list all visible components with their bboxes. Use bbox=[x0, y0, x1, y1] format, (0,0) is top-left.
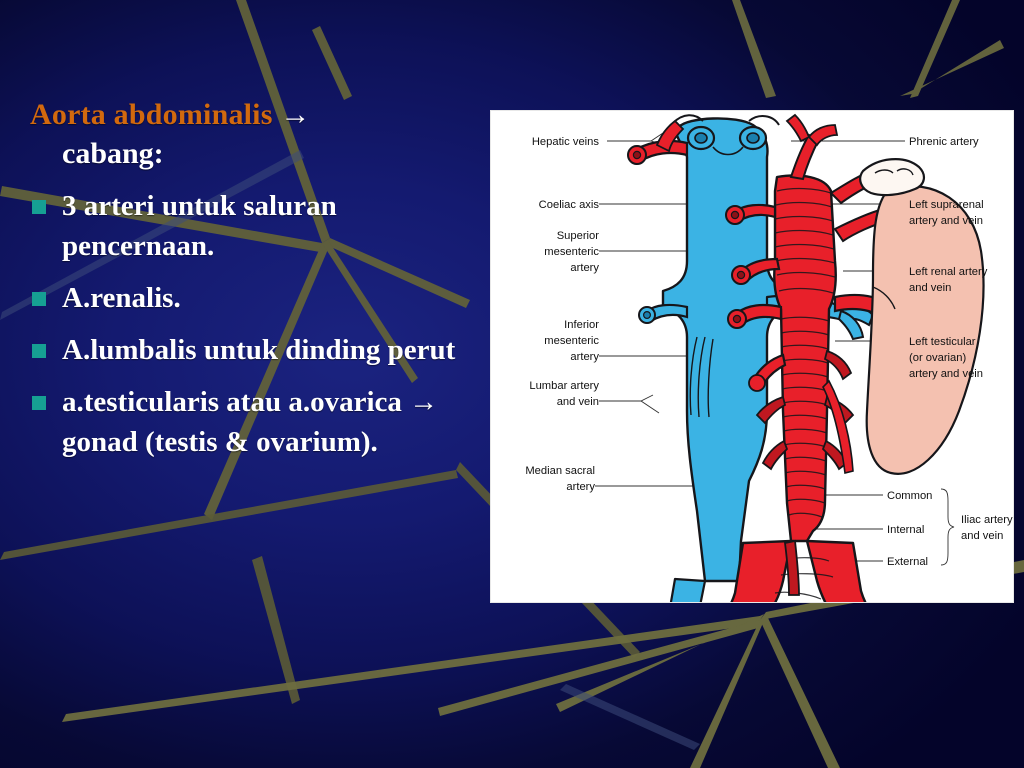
svg-text:Common: Common bbox=[887, 490, 932, 502]
svg-text:artery and vein: artery and vein bbox=[909, 368, 983, 380]
list-item: A.renalis. bbox=[0, 278, 470, 318]
svg-text:External: External bbox=[887, 556, 928, 568]
svg-text:Left renal artery: Left renal artery bbox=[909, 266, 988, 278]
curly-brace-icon bbox=[941, 489, 954, 565]
svg-text:mesenteric: mesenteric bbox=[544, 335, 599, 347]
bullet-square-icon bbox=[32, 292, 46, 306]
list-item: 3 arteri untuk saluran pencernaan. bbox=[0, 186, 470, 266]
subtitle: cabang: bbox=[0, 134, 470, 174]
svg-text:artery: artery bbox=[570, 351, 599, 363]
svg-text:and vein: and vein bbox=[961, 530, 1003, 542]
bullet-square-icon bbox=[32, 200, 46, 214]
svg-text:(or ovarian): (or ovarian) bbox=[909, 352, 966, 364]
svg-text:Left testicular: Left testicular bbox=[909, 336, 976, 348]
arrow-right-icon: → bbox=[280, 98, 310, 131]
svg-text:Lumbar artery: Lumbar artery bbox=[529, 380, 599, 392]
svg-text:artery: artery bbox=[566, 481, 595, 493]
list-item-label: A.renalis. bbox=[62, 282, 181, 314]
svg-text:Hepatic veins: Hepatic veins bbox=[532, 136, 600, 148]
svg-text:artery and vein: artery and vein bbox=[909, 215, 983, 227]
bullet-square-icon bbox=[32, 396, 46, 410]
figure-labels-left: Hepatic veins Coeliac axis Superior mese… bbox=[525, 136, 599, 493]
page-title: Aorta abdominalis → bbox=[0, 96, 470, 134]
svg-text:and vein: and vein bbox=[557, 396, 599, 408]
left-kidney bbox=[867, 186, 984, 474]
svg-text:artery: artery bbox=[570, 262, 599, 274]
svg-text:Inferior: Inferior bbox=[564, 319, 599, 331]
svg-text:Left suprarenal: Left suprarenal bbox=[909, 199, 984, 211]
slide: Aorta abdominalis → cabang: 3 arteri unt… bbox=[0, 0, 1024, 768]
svg-text:Internal: Internal bbox=[887, 524, 924, 536]
list-item: a.testicularis atau a.ovarica → gonad (t… bbox=[0, 382, 470, 462]
slide-text-column: Aorta abdominalis → cabang: 3 arteri unt… bbox=[0, 96, 470, 462]
svg-text:Iliac artery: Iliac artery bbox=[961, 514, 1013, 526]
title-text: Aorta abdominalis bbox=[30, 98, 273, 131]
figure-labels-iliac: Common Internal External Iliac artery an… bbox=[887, 489, 1013, 568]
svg-text:and vein: and vein bbox=[909, 282, 951, 294]
bullet-square-icon bbox=[32, 344, 46, 358]
svg-text:Median sacral: Median sacral bbox=[525, 465, 595, 477]
left-suprarenal-gland bbox=[860, 159, 924, 195]
svg-text:Coeliac axis: Coeliac axis bbox=[539, 199, 600, 211]
list-item: A.lumbalis untuk dinding perut bbox=[0, 330, 470, 370]
list-item-label: 3 arteri untuk saluran pencernaan. bbox=[62, 190, 337, 262]
list-item-label: A.lumbalis untuk dinding perut bbox=[62, 334, 455, 366]
aorta-diagram: Hepatic veins Coeliac axis Superior mese… bbox=[491, 111, 1013, 602]
svg-text:mesenteric: mesenteric bbox=[544, 246, 599, 258]
figure-panel: Hepatic veins Coeliac axis Superior mese… bbox=[491, 111, 1013, 602]
svg-text:Superior: Superior bbox=[557, 230, 600, 242]
list-item-label: a.testicularis atau a.ovarica → gonad (t… bbox=[62, 386, 438, 458]
svg-text:Phrenic artery: Phrenic artery bbox=[909, 136, 979, 148]
